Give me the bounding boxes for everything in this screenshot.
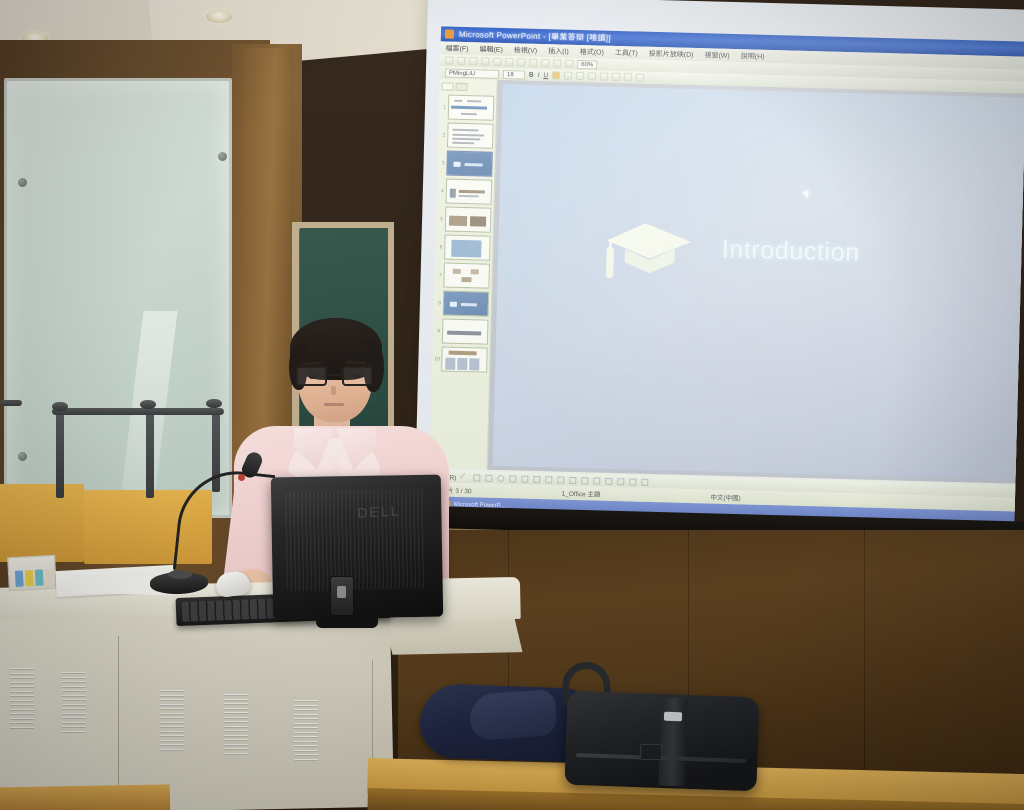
mouth — [324, 403, 344, 406]
current-slide[interactable]: Introduction — [493, 84, 1024, 480]
menu-item-edit[interactable]: 編輯(E) — [479, 44, 503, 55]
table-crossbar — [52, 408, 224, 415]
cabinet-vent — [62, 672, 86, 735]
slide-thumbnail-10[interactable] — [441, 346, 488, 372]
slide-thumbnail-6[interactable] — [444, 235, 491, 261]
table-leg-cap — [52, 402, 68, 411]
3d-style-icon[interactable] — [641, 478, 648, 485]
projection-screen: Microsoft PowerPoint - [畢業答辯 [唯讀]] 檔案(F)… — [414, 0, 1024, 534]
powerpoint-app-icon — [445, 29, 454, 38]
slide-title-text: Introduction — [721, 236, 860, 269]
menu-item-window[interactable]: 視窗(W) — [704, 50, 730, 61]
picture-icon[interactable] — [557, 476, 564, 483]
print-icon[interactable] — [481, 57, 489, 65]
chair-back — [0, 484, 84, 562]
thumbnail-row[interactable]: 3 — [439, 150, 493, 176]
thumbnail-number: 7 — [437, 272, 442, 278]
table-leg-cap — [140, 400, 156, 409]
open-file-icon[interactable] — [457, 57, 465, 65]
monitor-vents — [285, 489, 427, 591]
thumbnail-row[interactable]: 2 — [440, 122, 494, 148]
slide-thumbnail-1[interactable] — [448, 95, 495, 121]
redo-icon[interactable] — [565, 60, 573, 68]
align-left-icon[interactable] — [564, 72, 572, 80]
clipart-icon[interactable] — [545, 476, 552, 483]
dell-monitor-back: DELL — [271, 475, 443, 620]
cabinet-vent — [294, 700, 318, 763]
cut-icon[interactable] — [517, 58, 525, 66]
glasses-bridge — [327, 374, 343, 376]
language-indicator: 中文(中國) — [710, 492, 741, 503]
decrease-font-icon[interactable] — [612, 73, 620, 81]
paste-icon[interactable] — [541, 59, 549, 67]
supply-box — [7, 555, 57, 591]
board-bolt-icon — [218, 152, 227, 161]
slide-thumbnail-7[interactable] — [443, 263, 490, 289]
bag-strap — [658, 698, 687, 787]
slide-thumbnail-3-selected[interactable] — [446, 151, 493, 177]
line-icon[interactable] — [460, 472, 470, 482]
podium-cabinet — [0, 612, 394, 810]
menu-item-slideshow[interactable]: 投影片放映(D) — [649, 48, 694, 59]
speaker-grille — [337, 586, 346, 598]
bag-clip-icon — [640, 744, 662, 760]
box-item — [25, 570, 34, 586]
wordart-icon[interactable] — [521, 475, 528, 482]
new-file-icon[interactable] — [445, 56, 453, 64]
thumbnail-number: 8 — [436, 300, 441, 306]
font-color-icon[interactable] — [593, 477, 600, 484]
rectangle-icon[interactable] — [485, 474, 492, 481]
font-size-value[interactable]: 18 — [503, 69, 525, 79]
box-item — [15, 570, 24, 586]
powerpoint-workspace: 1 2 — [430, 78, 1024, 484]
tab-slides[interactable] — [455, 82, 467, 90]
bullets-icon[interactable] — [588, 72, 596, 80]
thumbnail-number: 1 — [441, 104, 446, 110]
powerpoint-window: Microsoft PowerPoint - [畢業答辯 [唯讀]] 檔案(F)… — [429, 26, 1024, 512]
eyeglasses-icon — [296, 366, 374, 387]
spellcheck-icon[interactable] — [505, 58, 513, 66]
thumbnail-number: 6 — [437, 244, 442, 250]
thumbnail-row[interactable]: 4 — [439, 178, 493, 204]
glass-whiteboard — [4, 78, 232, 518]
design-icon[interactable] — [624, 73, 632, 81]
microphone-base-top — [168, 570, 192, 579]
wooden-desk-left — [0, 784, 170, 810]
thumbnail-row[interactable]: 6 — [437, 234, 491, 260]
thumbnail-number: 2 — [440, 132, 445, 138]
mouse-cursor-icon — [802, 190, 811, 200]
thumbnail-row[interactable]: 8 — [436, 290, 490, 316]
thumbnail-number: 3 — [440, 160, 445, 166]
thumbnail-number: 5 — [438, 216, 443, 222]
eye-right — [354, 374, 361, 378]
slide-thumbnail-8[interactable] — [443, 291, 490, 317]
thumbnail-row[interactable]: 1 — [441, 94, 495, 120]
copy-icon[interactable] — [529, 59, 537, 67]
slide-thumbnail-5[interactable] — [445, 207, 492, 233]
zoom-level-value[interactable]: 60% — [577, 59, 597, 69]
thumbnail-number: 4 — [439, 188, 444, 194]
underline-button[interactable]: U — [543, 72, 548, 79]
italic-button[interactable]: I — [538, 71, 540, 78]
outline-slides-tabs[interactable] — [441, 81, 494, 91]
diagram-icon[interactable] — [533, 475, 540, 482]
ceiling-light-icon — [206, 10, 232, 23]
box-item — [35, 569, 44, 585]
line-color-icon[interactable] — [581, 477, 588, 484]
increase-font-icon[interactable] — [600, 73, 608, 81]
bold-button[interactable]: B — [529, 71, 534, 78]
new-slide-icon[interactable] — [636, 73, 644, 81]
jacket-fold — [469, 689, 558, 741]
thumbnail-row[interactable]: 7 — [436, 262, 490, 288]
slide-editing-area[interactable]: Introduction — [488, 80, 1024, 484]
fill-color-icon[interactable] — [569, 476, 576, 483]
preview-icon[interactable] — [493, 58, 501, 66]
cabinet-seam — [118, 636, 119, 810]
bag-buckle-icon — [664, 712, 682, 722]
cabinet-vent — [160, 690, 184, 753]
cabinet-vent — [224, 694, 248, 757]
arrow-icon[interactable] — [473, 474, 480, 481]
nose — [331, 386, 336, 395]
table-leg — [146, 412, 154, 498]
table-leg — [56, 414, 64, 498]
save-icon[interactable] — [469, 57, 477, 65]
textbox-icon[interactable] — [509, 475, 516, 482]
shadow-icon[interactable] — [552, 71, 560, 79]
oval-icon[interactable] — [497, 474, 504, 481]
theme-name: 1_Office 主題 — [561, 488, 600, 499]
dell-logo: DELL — [357, 502, 401, 520]
slide-thumbnail-2[interactable] — [447, 123, 494, 149]
slide-thumbnail-4[interactable] — [446, 179, 493, 205]
dash-style-icon[interactable] — [617, 478, 624, 485]
board-bolt-icon — [18, 178, 27, 187]
table-leg-cap — [206, 399, 222, 408]
graduation-cap-icon — [604, 220, 694, 282]
shadow-style-icon[interactable] — [629, 478, 636, 485]
thumbnail-row[interactable]: 5 — [438, 206, 492, 232]
table-crossbar — [0, 400, 22, 406]
menu-item-format[interactable]: 格式(O) — [580, 46, 604, 57]
align-center-icon[interactable] — [576, 72, 584, 80]
menu-item-help[interactable]: 說明(H) — [741, 51, 765, 62]
microphone-indicator-icon — [238, 474, 245, 481]
box-item — [45, 569, 54, 585]
slide-thumbnail-9[interactable] — [442, 318, 489, 344]
lecture-room-photo: Microsoft PowerPoint - [畢業答辯 [唯讀]] 檔案(F)… — [0, 0, 1024, 810]
close-panel-icon[interactable] — [469, 83, 481, 91]
menu-item-tools[interactable]: 工具(T) — [615, 47, 638, 58]
font-name-value[interactable]: PMingLiU — [445, 68, 499, 78]
board-bolt-icon — [18, 452, 27, 461]
line-style-icon[interactable] — [605, 477, 612, 484]
cabinet-vent — [10, 668, 34, 731]
tab-outline[interactable] — [441, 82, 453, 90]
menu-item-insert[interactable]: 插入(I) — [548, 46, 569, 57]
menu-item-file[interactable]: 檔案(F) — [445, 43, 468, 54]
undo-icon[interactable] — [553, 59, 561, 67]
eye-left — [309, 375, 316, 379]
menu-item-view[interactable]: 檢視(V) — [514, 45, 538, 56]
